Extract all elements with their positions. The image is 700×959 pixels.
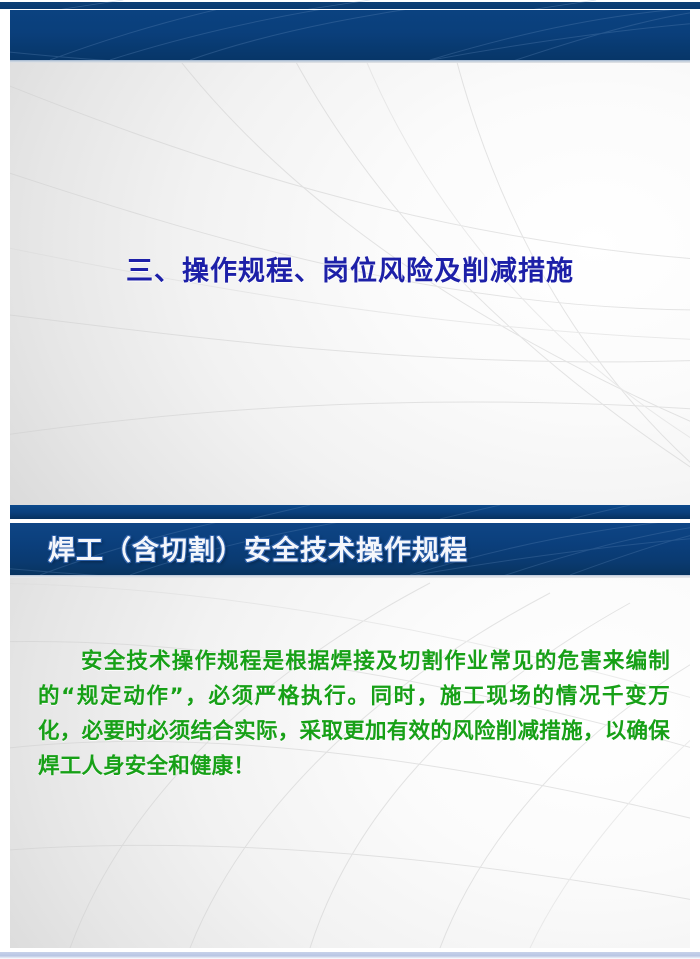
slide-two-header-bar: 焊工（含切割）安全技术操作规程: [10, 523, 690, 575]
band-swoosh-icon: [10, 10, 690, 60]
slide-one-top-band-edge: [10, 60, 690, 63]
document-page: 三、操作规程、岗位风险及削减措施: [0, 0, 700, 959]
band-swoosh-icon: [10, 505, 690, 519]
swoosh-lines-icon: [0, 0, 699, 9]
slide-one[interactable]: 三、操作规程、岗位风险及削减措施: [10, 10, 690, 519]
slide-two[interactable]: 焊工（含切割）安全技术操作规程 安全技术操作规程是根据焊接及切割作业常见的危害来…: [10, 523, 690, 948]
slide-one-top-band: [10, 10, 690, 60]
page-bottom-rule: [0, 948, 700, 959]
slide-two-body-text: 安全技术操作规程是根据焊接及切割作业常见的危害来编制的“规定动作”，必须严格执行…: [38, 644, 670, 784]
slide-one-bottom-band: [10, 505, 690, 519]
previous-slide-sliver: [0, 0, 700, 9]
slide-one-title-container: 三、操作规程、岗位风险及削减措施: [10, 238, 690, 307]
slide-two-header-title: 焊工（含切割）安全技术操作规程: [48, 529, 468, 568]
slide-two-header-underline: [10, 575, 690, 578]
slide-one-title: 三、操作规程、岗位风险及削减措施: [126, 256, 574, 288]
